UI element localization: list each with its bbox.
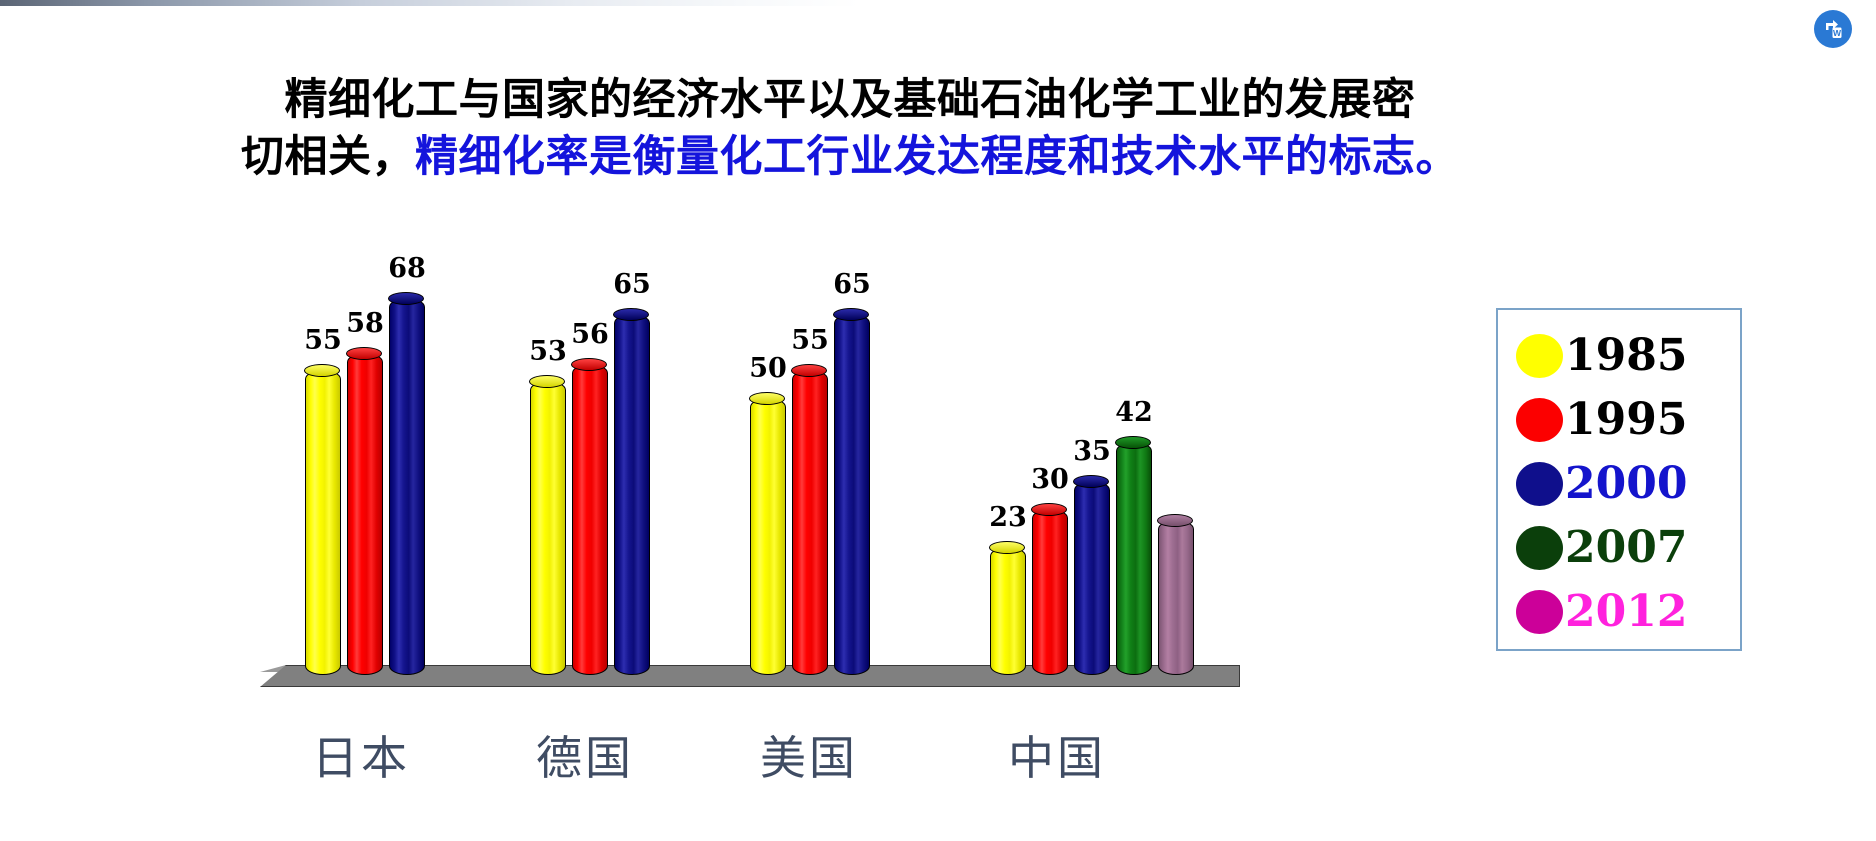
bar-value-label: 65 (833, 269, 871, 300)
bar-slot: 68 (389, 298, 425, 675)
bar-group: 23303542 (990, 442, 1194, 675)
chart-legend: 19851995200020072012 (1496, 308, 1742, 651)
bar-slot: 42 (1116, 442, 1152, 675)
legend-label: 2000 (1565, 462, 1687, 506)
bar-cylinder-cap (613, 308, 649, 321)
bar-group: 505565 (750, 314, 870, 675)
bar-group: 555868 (305, 298, 425, 675)
bar-cylinder-cap (791, 364, 827, 377)
bar-cylinder-cap (749, 392, 785, 405)
word-export-icon[interactable]: W (1814, 10, 1852, 48)
country-label-china: 中国 (1008, 722, 1106, 788)
legend-label: 1985 (1565, 334, 1687, 378)
bar-cylinder[interactable] (750, 398, 786, 676)
bar-cylinder-cap (833, 308, 869, 321)
bar-slot: 65 (834, 314, 870, 675)
bar-slot: 65 (614, 314, 650, 675)
bar-cylinder[interactable] (1074, 481, 1110, 675)
title-line-2-black: 切相关， (241, 132, 415, 182)
bar-cylinder-cap (1073, 475, 1109, 488)
title-line-2-blue: 精细化率是衡量化工行业发达程度和技术水平的标志。 (415, 132, 1459, 182)
bar-slot: 55 (305, 370, 341, 675)
bar-cylinder-cap (571, 358, 607, 371)
bar-slot: 50 (750, 398, 786, 676)
bar-value-label: 23 (989, 502, 1027, 533)
bar-cylinder-cap (388, 292, 424, 305)
bar-slot: 53 (530, 381, 566, 675)
bar-value-label: 55 (304, 325, 342, 356)
bar-value-label: 68 (388, 253, 426, 284)
bar-value-label: 58 (346, 308, 384, 339)
svg-text:W: W (1833, 28, 1842, 38)
bar-value-label: 65 (613, 269, 651, 300)
bar-cylinder-cap (304, 364, 340, 377)
legend-item-2007[interactable]: 2007 (1516, 516, 1740, 580)
title-line-1: 精细化工与国家的经济水平以及基础石油化学工业的发展密 (0, 72, 1700, 129)
bar-value-label: 30 (1031, 464, 1069, 495)
bar-cylinder[interactable] (347, 353, 383, 675)
legend-swatch-icon (1516, 590, 1563, 634)
legend-item-1995[interactable]: 1995 (1516, 388, 1740, 452)
bar-chart: 55586853566550556523303542 (250, 255, 1280, 705)
bar-cylinder[interactable] (572, 364, 608, 675)
bar-group: 535665 (530, 314, 650, 675)
bar-slot: 56 (572, 364, 608, 675)
bar-value-label: 56 (571, 319, 609, 350)
bar-cylinder-cap (529, 375, 565, 388)
bar-value-label: 50 (749, 353, 787, 384)
bar-cylinder[interactable] (389, 298, 425, 675)
bar-slot: 23 (990, 547, 1026, 675)
bar-slot (1158, 520, 1194, 675)
title-line-2: 切相关，精细化率是衡量化工行业发达程度和技术水平的标志。 (0, 129, 1700, 186)
top-gradient-strip (0, 0, 860, 6)
bar-value-label: 55 (791, 325, 829, 356)
slide-canvas: W 精细化工与国家的经济水平以及基础石油化学工业的发展密 切相关，精细化率是衡量… (0, 0, 1876, 841)
country-label-usa: 美国 (760, 722, 858, 788)
slide-title: 精细化工与国家的经济水平以及基础石油化学工业的发展密 切相关，精细化率是衡量化工… (0, 72, 1700, 186)
bar-cylinder[interactable] (1158, 520, 1194, 675)
bar-cylinder[interactable] (530, 381, 566, 675)
bar-cylinder-cap (1115, 436, 1151, 449)
legend-swatch-icon (1516, 334, 1563, 378)
bar-cylinder[interactable] (614, 314, 650, 675)
bar-value-label: 42 (1115, 397, 1153, 428)
legend-swatch-icon (1516, 462, 1563, 506)
legend-item-2000[interactable]: 2000 (1516, 452, 1740, 516)
bar-cylinder[interactable] (305, 370, 341, 675)
bar-slot: 58 (347, 353, 383, 675)
bar-cylinder-cap (1157, 514, 1193, 527)
legend-item-2012[interactable]: 2012 (1516, 580, 1740, 644)
bar-cylinder-cap (989, 541, 1025, 554)
bar-cylinder[interactable] (1032, 509, 1068, 676)
legend-item-1985[interactable]: 1985 (1516, 324, 1740, 388)
bar-cylinder[interactable] (834, 314, 870, 675)
bar-slot: 35 (1074, 481, 1110, 675)
bar-cylinder-cap (346, 347, 382, 360)
country-label-germany: 德国 (536, 722, 634, 788)
legend-swatch-icon (1516, 398, 1563, 442)
legend-label: 2012 (1565, 590, 1687, 634)
bar-slot: 55 (792, 370, 828, 675)
bar-slot: 30 (1032, 509, 1068, 676)
legend-label: 1995 (1565, 398, 1687, 442)
bar-value-label: 53 (529, 336, 567, 367)
bar-cylinder-cap (1031, 503, 1067, 516)
bar-cylinder[interactable] (990, 547, 1026, 675)
country-label-japan: 日本 (312, 722, 410, 788)
legend-swatch-icon (1516, 526, 1563, 570)
legend-label: 2007 (1565, 526, 1687, 570)
bar-cylinder[interactable] (792, 370, 828, 675)
bar-cylinder[interactable] (1116, 442, 1152, 675)
bar-value-label: 35 (1073, 436, 1111, 467)
